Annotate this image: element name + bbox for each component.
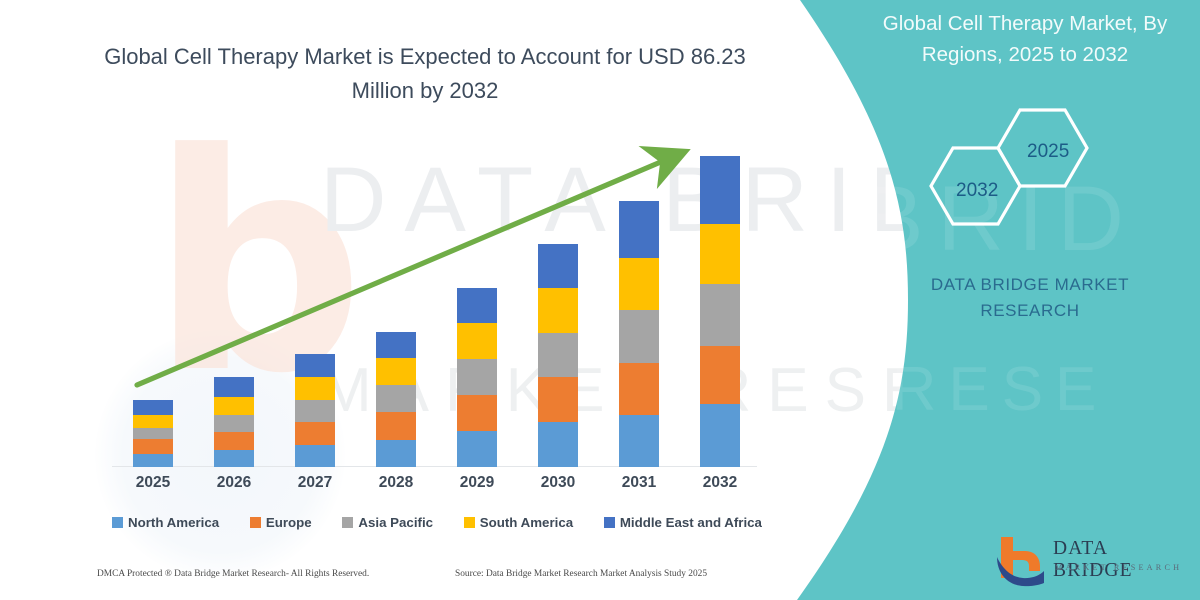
legend-item[interactable]: South America [464, 515, 573, 530]
stacked-bar-chart: 20252026202720282029203020312032 North A… [0, 0, 790, 600]
panel-title: Global Cell Therapy Market, By Regions, … [860, 8, 1190, 70]
hexagon-label-2032: 2032 [956, 180, 998, 202]
legend-label: South America [480, 515, 573, 530]
x-axis-labels: 20252026202720282029203020312032 [110, 474, 760, 498]
x-axis-label-2030: 2030 [528, 474, 588, 492]
x-axis-label-2028: 2028 [366, 474, 426, 492]
legend-item[interactable]: Middle East and Africa [604, 515, 762, 530]
infographic-canvas: b DATA BRIDGE MARKET RESEARCH Global Cel… [0, 0, 1200, 600]
x-axis-label-2029: 2029 [447, 474, 507, 492]
hexagon-year-group: 2025 2032 [915, 100, 1115, 230]
data-bridge-logo: DATA BRIDGE MARKET RESEARCH [995, 533, 1190, 591]
x-axis-label-2031: 2031 [609, 474, 669, 492]
x-axis-label-2027: 2027 [285, 474, 345, 492]
legend-swatch-icon [464, 517, 475, 528]
legend-swatch-icon [250, 517, 261, 528]
footer-copyright: DMCA Protected ® Data Bridge Market Rese… [97, 569, 369, 579]
logo-tagline: MARKET RESEARCH [1055, 563, 1182, 572]
legend-label: Europe [266, 515, 312, 530]
legend-swatch-icon [604, 517, 615, 528]
x-axis-label-2026: 2026 [204, 474, 264, 492]
footer-source: Source: Data Bridge Market Research Mark… [455, 569, 707, 579]
legend-swatch-icon [112, 517, 123, 528]
legend-swatch-icon [342, 517, 353, 528]
hexagon-label-2025: 2025 [1027, 141, 1069, 163]
legend-label: Middle East and Africa [620, 515, 762, 530]
panel-brand-text: DATA BRIDGE MARKET RESEARCH [900, 272, 1160, 324]
logo-title: DATA BRIDGE [1053, 538, 1190, 582]
chart-legend: North AmericaEuropeAsia PacificSouth Ame… [112, 511, 762, 533]
legend-label: Asia Pacific [358, 515, 433, 530]
growth-arrow-icon [110, 140, 760, 470]
x-axis-label-2032: 2032 [690, 474, 750, 492]
legend-item[interactable]: Asia Pacific [342, 515, 433, 530]
legend-item[interactable]: North America [112, 515, 219, 530]
legend-label: North America [128, 515, 219, 530]
x-axis-label-2025: 2025 [123, 474, 183, 492]
logo-mark-icon [995, 533, 1051, 587]
legend-item[interactable]: Europe [250, 515, 312, 530]
